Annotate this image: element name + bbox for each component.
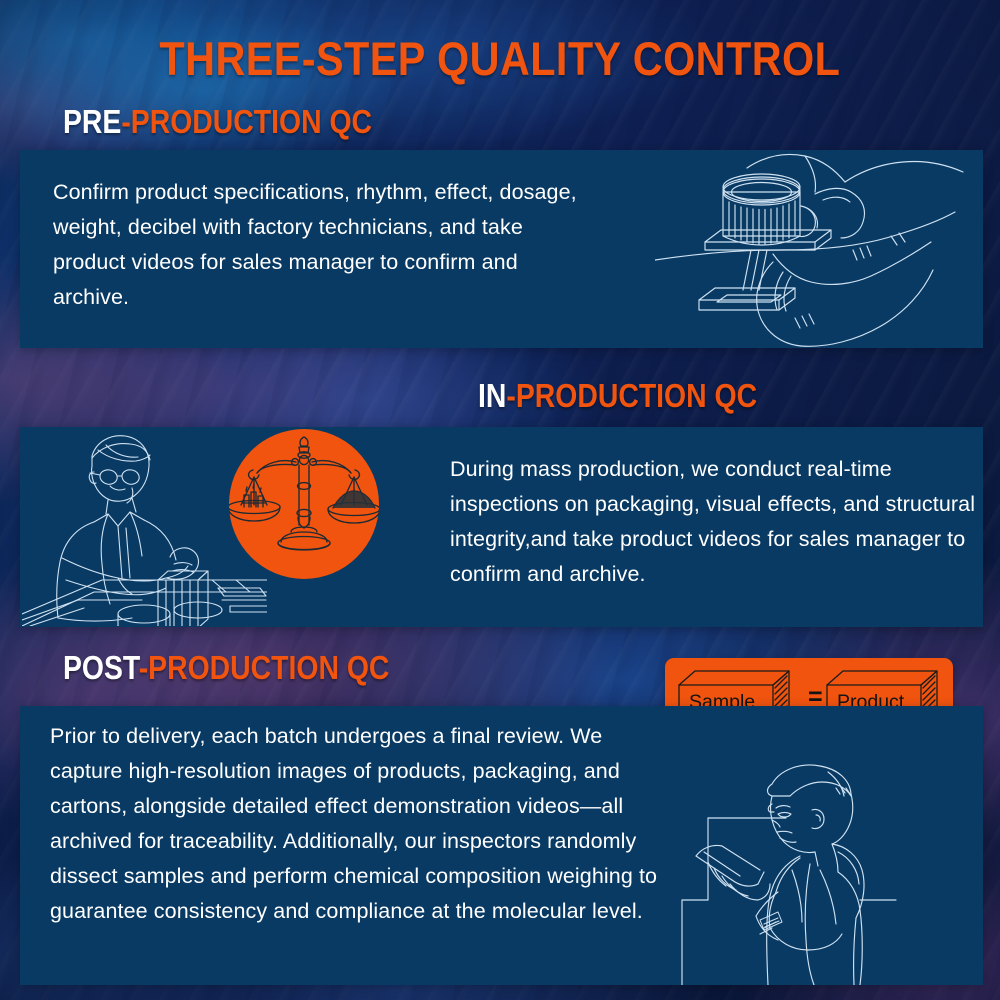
step-body-pre-production: Confirm product specifications, rhythm, … bbox=[53, 175, 598, 315]
step-heading-post-production: POST-PRODUCTION QC bbox=[63, 650, 443, 686]
step-heading-pre-production: PRE-PRODUCTION QC bbox=[63, 104, 422, 140]
inspector-with-tablet-icon bbox=[660, 752, 983, 985]
step-panel-post-production: Prior to delivery, each batch undergoes … bbox=[20, 706, 983, 985]
poster-root: THREE-STEP QUALITY CONTROL PRE-PRODUCTIO… bbox=[0, 0, 1000, 1000]
step-heading-post-suffix: -PRODUCTION QC bbox=[139, 649, 390, 686]
step-heading-post-prefix: POST bbox=[63, 649, 139, 686]
step-body-post-production: Prior to delivery, each batch undergoes … bbox=[50, 719, 670, 929]
page-title: THREE-STEP QUALITY CONTROL bbox=[0, 33, 1000, 85]
step-heading-pre-suffix: -PRODUCTION QC bbox=[121, 103, 372, 140]
step-heading-in-suffix: -PRODUCTION QC bbox=[506, 377, 757, 414]
step-heading-in-prefix: IN bbox=[478, 377, 506, 414]
hand-holding-product-icon bbox=[655, 150, 983, 348]
equals-sign: = bbox=[808, 686, 823, 708]
step-panel-pre-production: Confirm product specifications, rhythm, … bbox=[20, 150, 983, 348]
step-heading-pre-prefix: PRE bbox=[63, 103, 121, 140]
balance-scales-icon bbox=[229, 429, 379, 579]
step-heading-in-production: IN-PRODUCTION QC bbox=[478, 378, 803, 414]
step-panel-in-production: During mass production, we conduct real-… bbox=[20, 427, 983, 627]
step-body-in-production: During mass production, we conduct real-… bbox=[450, 452, 978, 592]
page-title-text: THREE-STEP QUALITY CONTROL bbox=[160, 33, 841, 85]
